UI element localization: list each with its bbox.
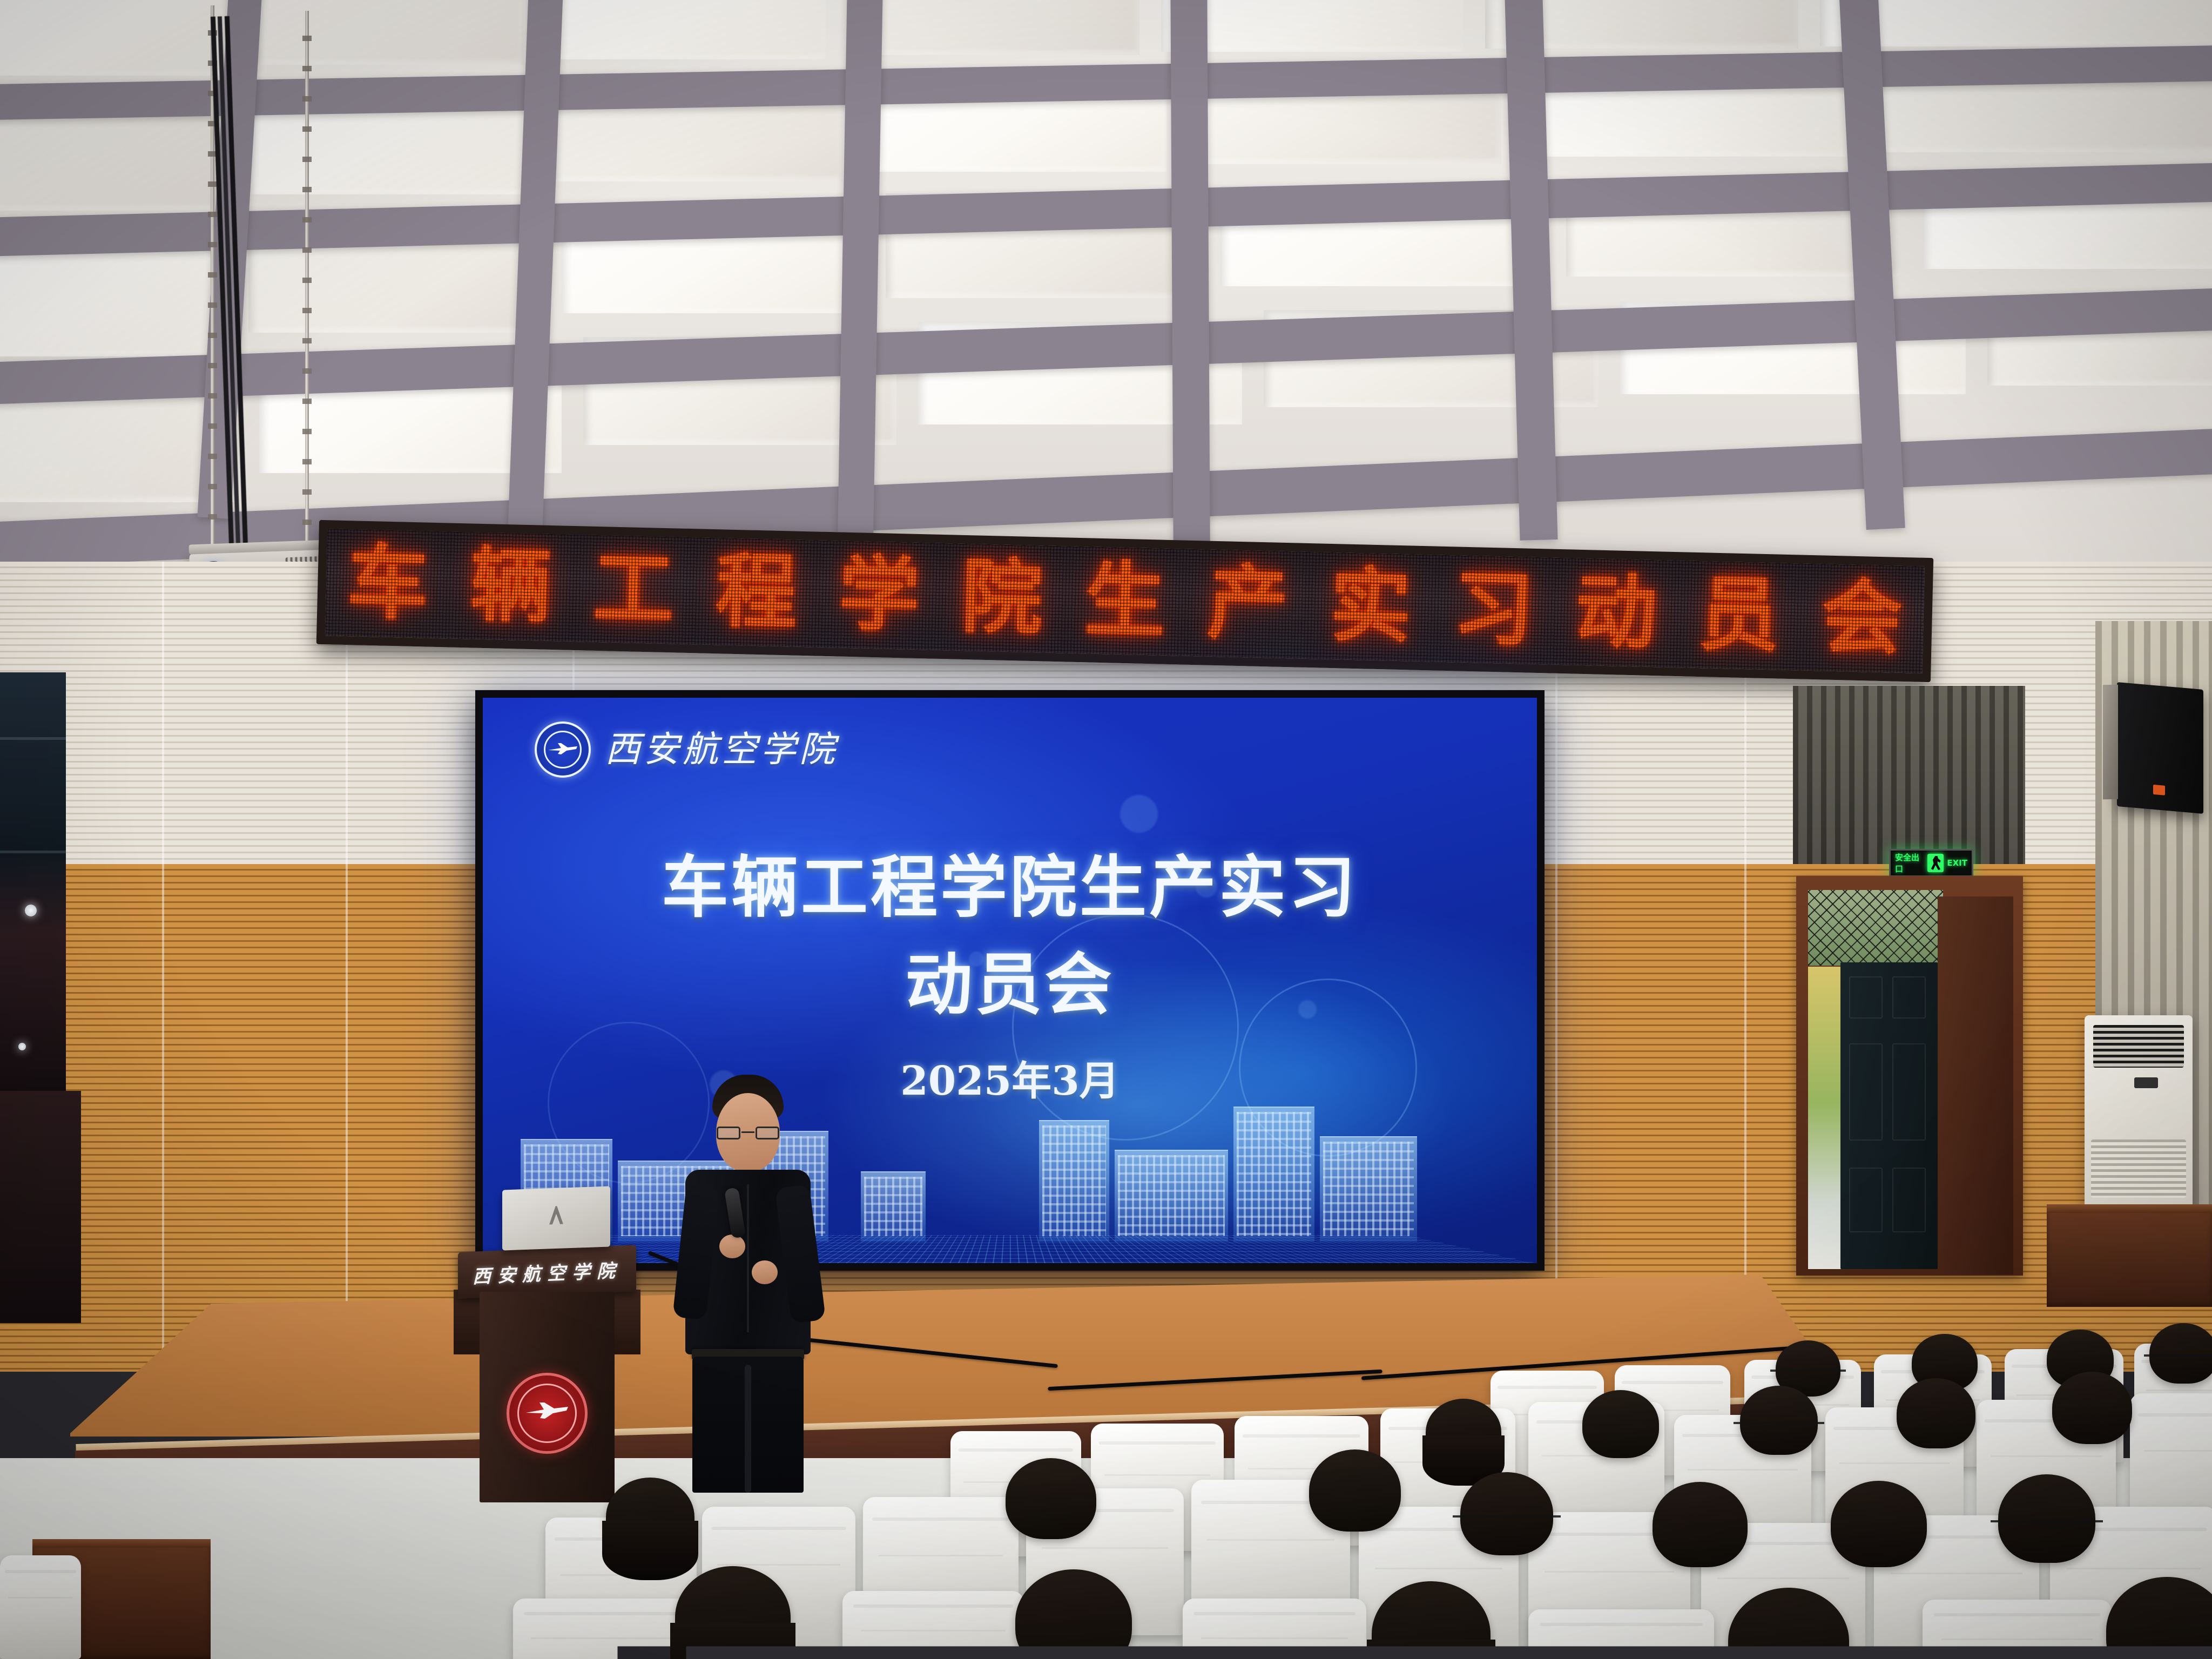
seated-attendee (606, 1478, 694, 1556)
led-char-7: 产 (1206, 563, 1290, 645)
led-char-6: 生 (1083, 559, 1166, 642)
led-char-10: 动 (1575, 571, 1658, 654)
seated-attendee (1740, 1386, 1818, 1455)
seated-attendee (1006, 1458, 1096, 1539)
seated-attendee (1897, 1378, 1975, 1448)
loudspeaker-side-panel (2103, 685, 2118, 799)
led-char-3: 程 (715, 551, 798, 633)
side-window-dark (0, 672, 66, 1094)
covered-chair[interactable] (0, 1555, 81, 1659)
seated-attendee (1653, 1482, 1748, 1567)
seated-attendee (1582, 1390, 1659, 1458)
air-conditioner-unit (2085, 1015, 2193, 1210)
slide-university-logo: 西安航空学院 (535, 721, 838, 778)
ac-outlet-grille (2091, 1139, 2186, 1198)
led-char-2: 工 (592, 548, 675, 631)
slide-title-line-1: 车辆工程学院生产实习 (483, 833, 1537, 930)
exit-door-leaf[interactable] (1840, 962, 1938, 1269)
seated-attendee (2149, 1323, 2212, 1384)
led-char-11: 员 (1698, 574, 1781, 657)
presenter-hand-free (752, 1260, 778, 1284)
slide-date-text: 2025年3月 (483, 1049, 1537, 1107)
projector-support-rod-right (305, 11, 309, 572)
seated-attendee (1426, 1399, 1501, 1466)
doorway-outdoor-view (1808, 967, 1842, 1269)
covered-chair[interactable] (513, 1599, 691, 1659)
led-char-8: 实 (1329, 565, 1412, 648)
led-char-1: 辆 (469, 545, 552, 628)
side-table-right (2047, 1204, 2212, 1307)
laptop-logo-icon (549, 1206, 563, 1225)
seated-attendee (2052, 1372, 2132, 1444)
led-char-9: 习 (1452, 568, 1535, 651)
covered-chair[interactable] (842, 1591, 1024, 1659)
led-char-5: 院 (961, 557, 1044, 639)
lectern-top: 西安航空学院 (458, 1245, 636, 1299)
lectern-podium: 西安航空学院 (458, 1249, 636, 1502)
university-emblem-icon (535, 721, 591, 778)
led-char-0: 车 (346, 542, 429, 625)
presenter-laptop[interactable] (502, 1186, 610, 1251)
exit-sign-cn-label: 安全出口 (1895, 852, 1924, 874)
covered-chair[interactable] (1923, 1600, 2112, 1659)
slide-campus-graphic (483, 1085, 1537, 1263)
auditorium-scene: 车 辆 工 程 学 院 生 产 实 习 动 员 会 (0, 0, 2212, 1659)
presenter-legs (692, 1357, 804, 1493)
led-char-4: 学 (838, 554, 921, 637)
presenter-hand-mic (719, 1235, 745, 1258)
airplane-icon (547, 742, 578, 755)
covered-chair[interactable] (1183, 1599, 1366, 1659)
led-char-12: 会 (1820, 577, 1904, 659)
running-person-icon (1927, 854, 1944, 872)
stage-curtain-dark (1793, 686, 2025, 864)
lectern-plaque-text: 西安航空学院 (473, 1256, 622, 1289)
door-reveal-panel (1938, 896, 2013, 1274)
presenter-glasses-icon (717, 1127, 779, 1139)
door-transom-grille (1808, 890, 1943, 966)
seated-attendee (1831, 1481, 1927, 1567)
seal-bird-icon (524, 1401, 570, 1419)
exit-sign-en-label: EXIT (1947, 858, 1967, 868)
university-name-text: 西安航空学院 (605, 732, 838, 767)
loudspeaker-brand-badge (2153, 785, 2165, 795)
side-window-dark-lower (0, 1091, 81, 1323)
covered-chair[interactable] (1528, 1609, 1714, 1659)
wall-loudspeaker (2117, 682, 2203, 814)
university-seal-icon (507, 1373, 588, 1454)
seated-attendee (1998, 1474, 2095, 1563)
seated-attendee (1309, 1449, 1401, 1532)
emergency-exit-sign: 安全出口 EXIT (1889, 849, 1973, 877)
ac-intake-grille (2093, 1025, 2184, 1068)
lectern-body (480, 1292, 615, 1502)
presenter-figure (670, 1075, 826, 1491)
presentation-screen: 西安航空学院 车辆工程学院生产实习 动员会 2025年3月 (475, 690, 1545, 1271)
slide-title-line-2: 动员会 (483, 930, 1537, 1027)
ceiling (0, 0, 2212, 583)
ac-control-badge (2134, 1077, 2158, 1088)
seated-attendee (1460, 1472, 1553, 1555)
